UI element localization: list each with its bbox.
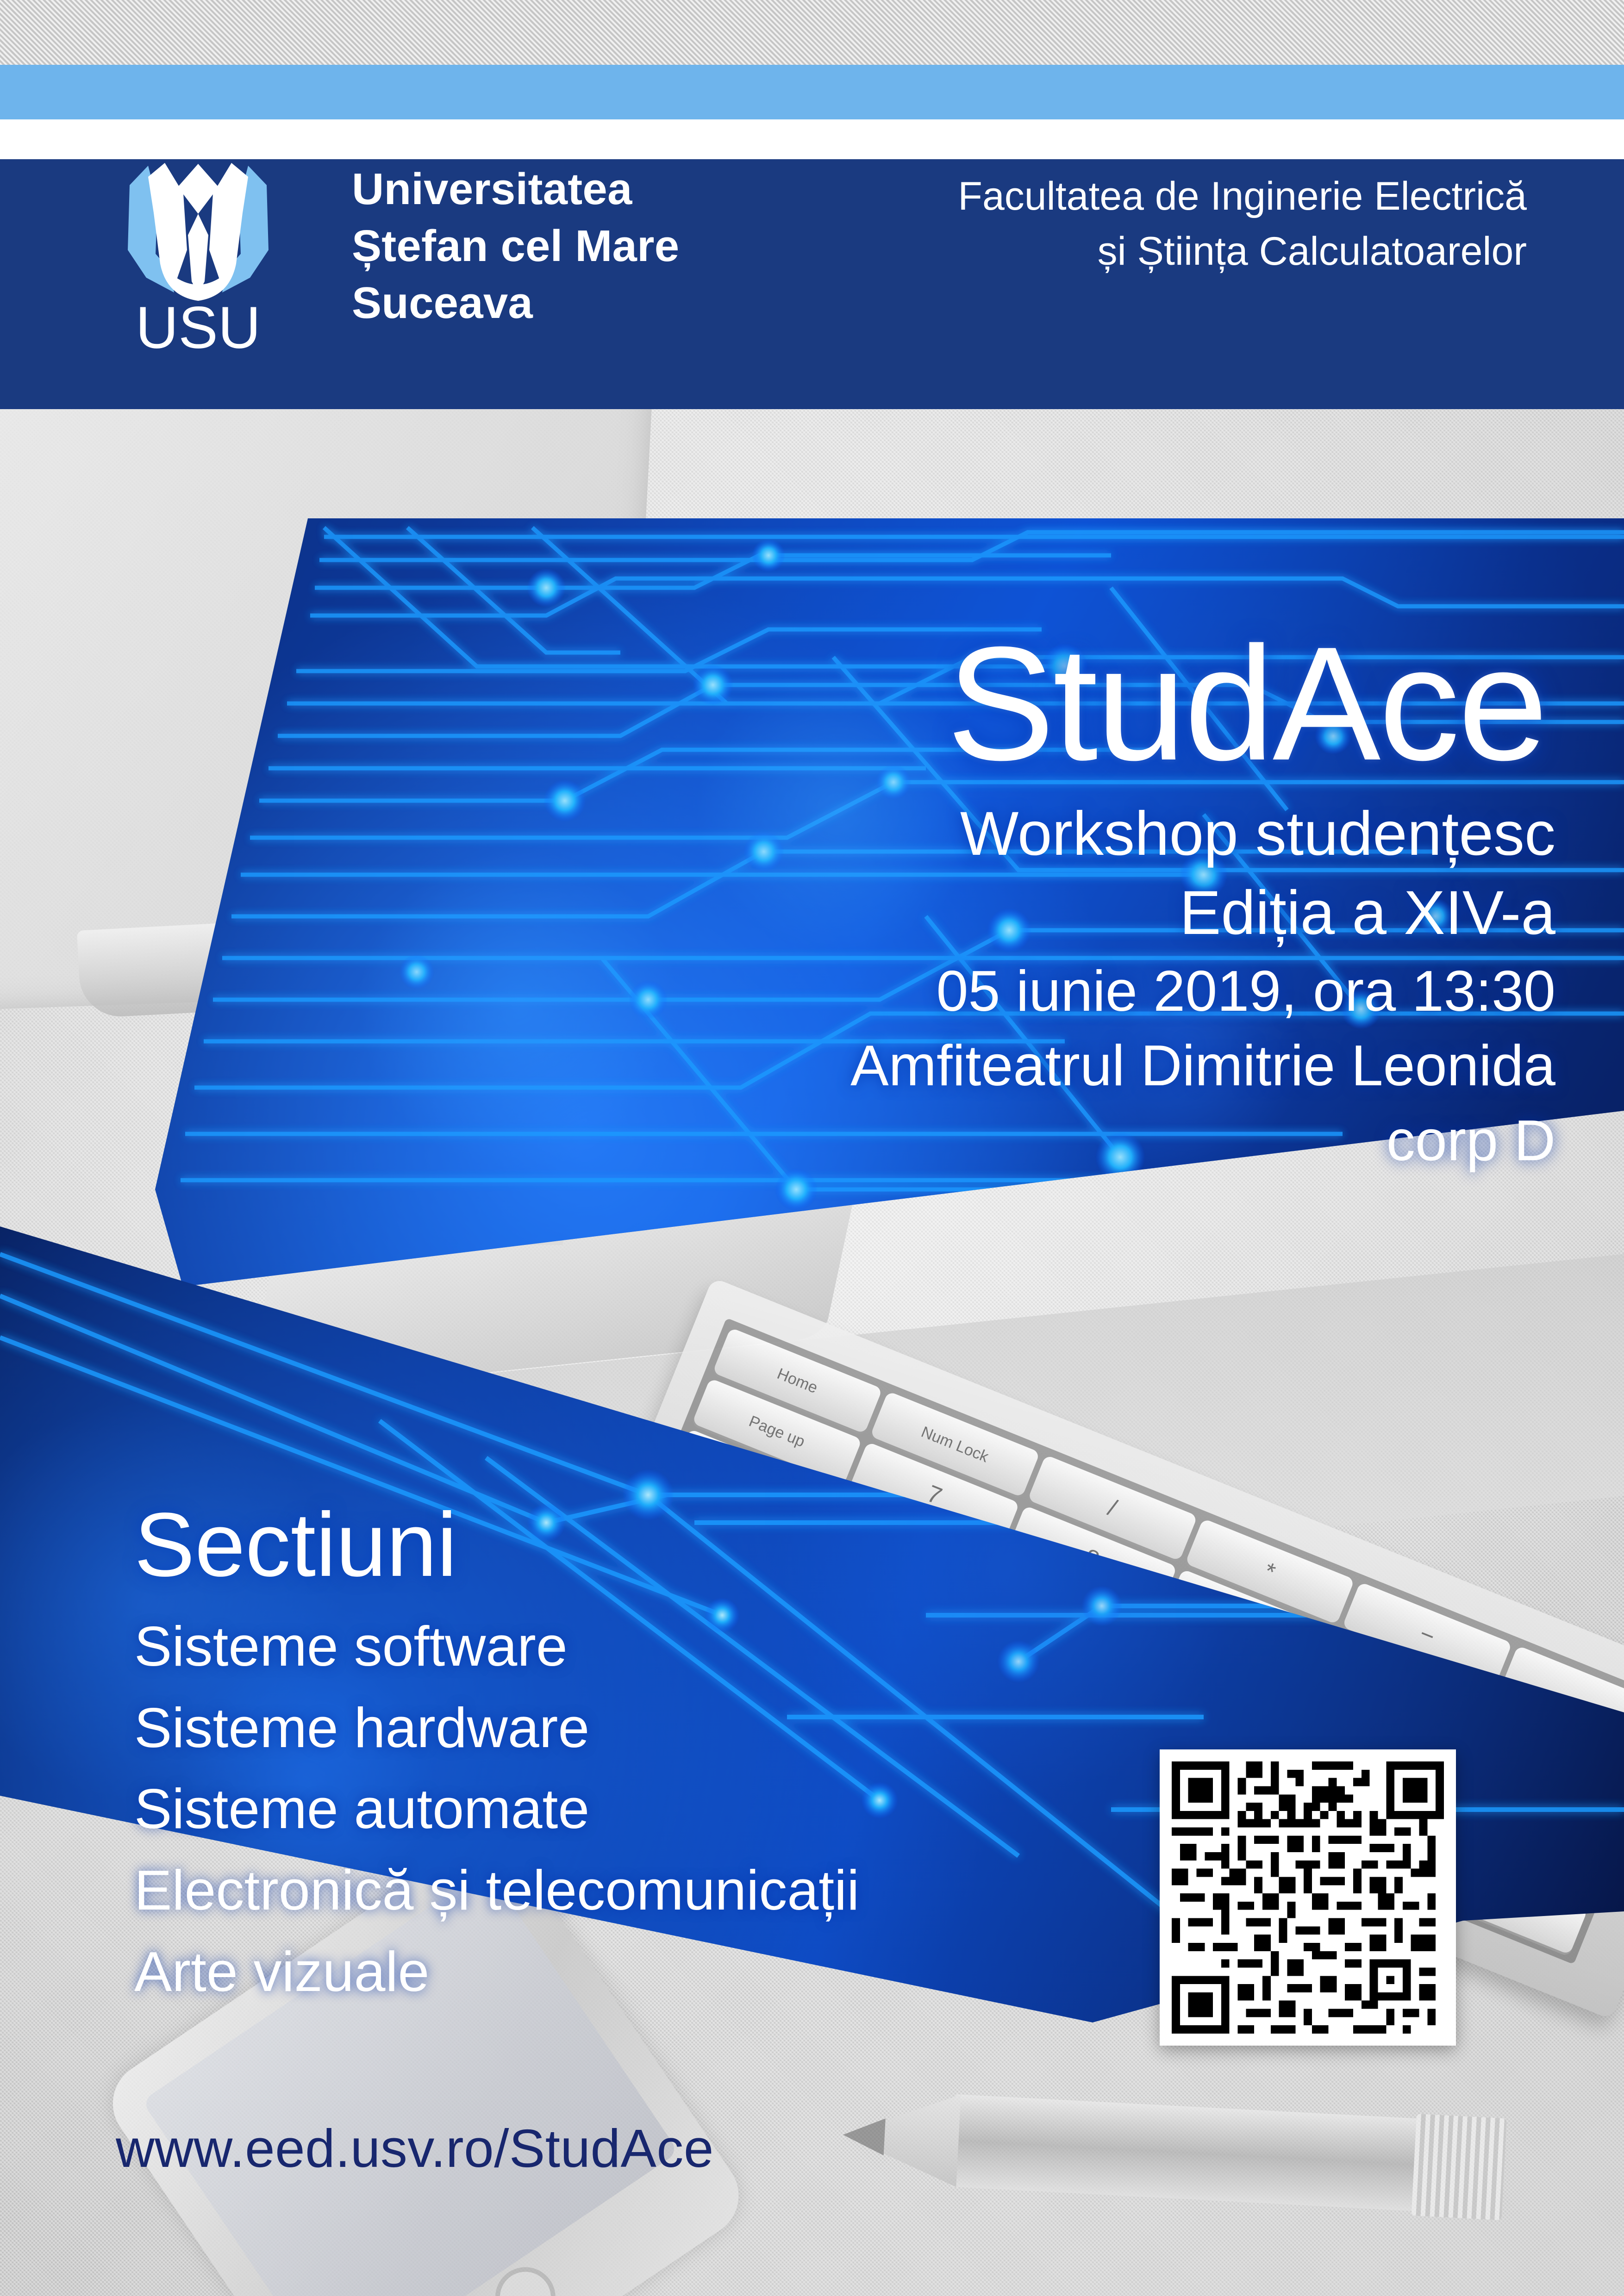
website-url[interactable]: www.eed.usv.ro/StudAce [116, 2117, 714, 2179]
faculty-name-line1: Facultatea de Inginerie Electrică [958, 169, 1527, 224]
university-name: Universitatea Ștefan cel Mare Suceava [352, 161, 679, 332]
usu-logo: USU [106, 157, 291, 352]
event-title: StudAce [537, 627, 1546, 781]
event-building: corp D [537, 1107, 1555, 1176]
section-item: Sisteme hardware [134, 1687, 1106, 1769]
event-edition: Ediția a XIV-a [537, 876, 1555, 951]
poster-root: Home Num Lock / * − Page up 7 8 9 + Page… [0, 0, 1624, 2296]
qr-code[interactable] [1160, 1749, 1456, 2046]
sections-block: Sectiuni Sisteme software Sisteme hardwa… [134, 1500, 1106, 2012]
pencil-lead [842, 2116, 886, 2156]
top-texture-strip [0, 0, 1624, 65]
pencil-ferrule [1412, 2114, 1507, 2220]
event-subtitle: Workshop studențesc [537, 794, 1555, 874]
event-datetime: 05 iunie 2019, ora 13:30 [537, 957, 1555, 1026]
accent-bar-light-blue [0, 65, 1624, 119]
event-venue: Amfiteatrul Dimitrie Leonida [537, 1032, 1555, 1101]
hero-text-block: StudAce Workshop studențesc Ediția a XIV… [537, 627, 1555, 1176]
accent-bar-white [0, 119, 1624, 159]
university-name-line1: Universitatea [352, 161, 679, 218]
section-item: Electronică și telecomunicații [134, 1850, 1106, 1931]
university-name-line3: Suceava [352, 275, 679, 332]
section-item: Sisteme software [134, 1606, 1106, 1687]
university-name-line2: Ștefan cel Mare [352, 218, 679, 275]
usu-acronym: USU [136, 295, 261, 352]
faculty-name-line2: și Știința Calculatoarelor [958, 224, 1527, 279]
section-item: Arte vizuale [134, 1931, 1106, 2013]
sections-list: Sisteme software Sisteme hardware Sistem… [134, 1606, 1106, 2012]
section-item: Sisteme automate [134, 1768, 1106, 1850]
sections-heading: Sectiuni [134, 1500, 1106, 1590]
faculty-name: Facultatea de Inginerie Electrică și Ști… [958, 169, 1527, 279]
